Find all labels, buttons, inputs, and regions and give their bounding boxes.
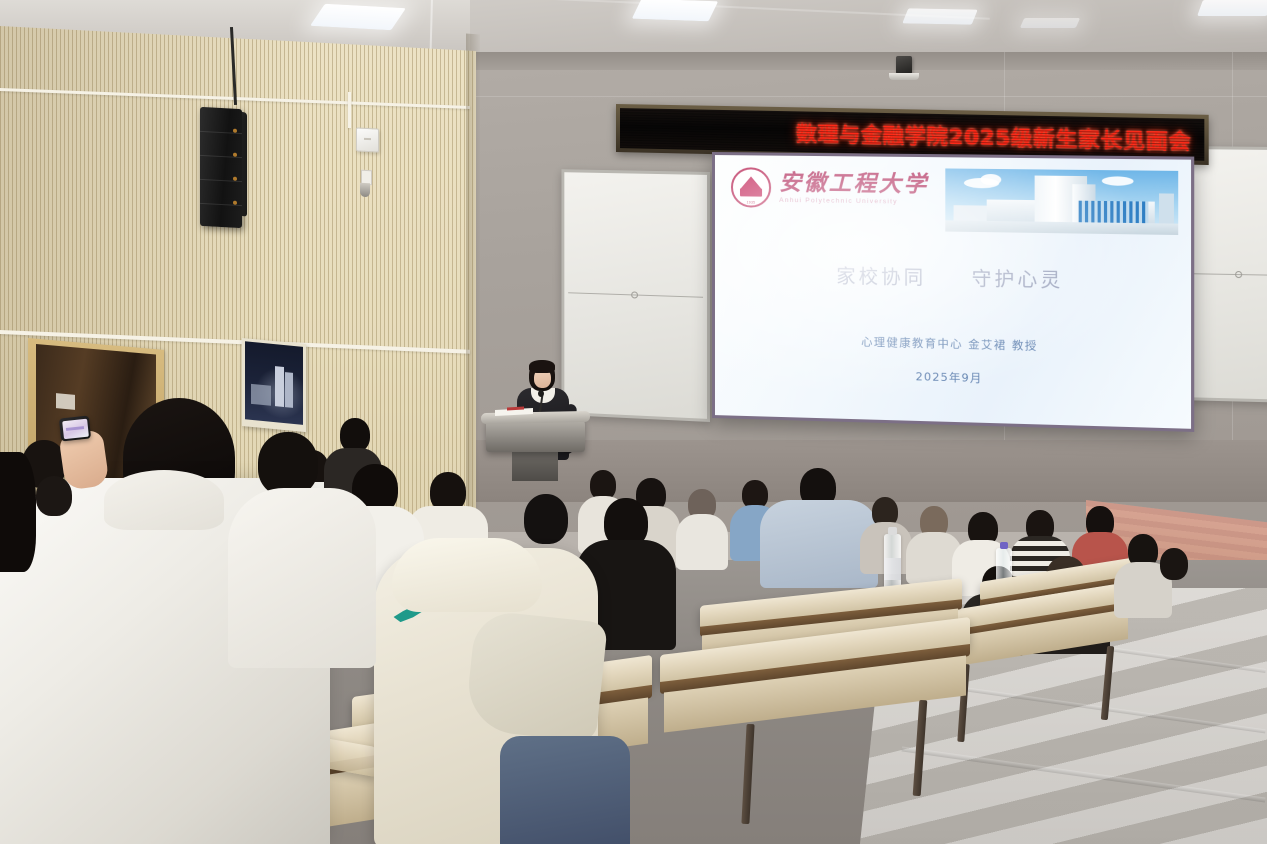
led-banner-screen: 数理与金融学院2025级新生家长见面会 [620,108,1204,161]
presentation-slide: 1935 安徽工程大学 Anhui Polytechnic University… [715,155,1191,429]
audience-head [340,418,370,452]
audience-head [1160,548,1188,580]
foreground-person-collar [104,470,224,530]
university-logo-block: 1935 安徽工程大学 Anhui Polytechnic University [731,167,929,210]
hoodie-hood [392,538,542,612]
university-name-cn: 安徽工程大学 [779,172,929,196]
podium-column [512,451,558,481]
framed-picture-image [245,341,303,425]
wall-cable-conduit [348,92,351,128]
emblem-year: 1935 [733,200,769,204]
door-notice-paper [56,393,75,410]
camera-mount [889,73,919,80]
wall-seam [470,96,1267,97]
line-array-speaker-icon [200,107,242,228]
front-wall-cornice [470,52,1267,70]
microphone-icon [538,390,544,397]
slide-title: 家校协同 守护心灵 [715,259,1191,295]
surveillance-camera-icon [896,56,912,74]
front-wall-lower-band [470,440,1267,502]
university-emblem-icon: 1935 [731,167,771,208]
projection-screen: 1935 安徽工程大学 Anhui Polytechnic University… [712,152,1194,432]
audience-jeans [500,736,630,844]
audience-torso [676,514,728,570]
lecture-hall-photo: 数理与金融学院2025级新生家长见面会 1935 安徽工程大学 Anhui Po… [0,0,1267,844]
audience-head [258,432,318,496]
led-banner-text: 数理与金融学院2025级新生家长见面会 [796,116,1204,155]
audience-head [36,476,72,516]
phone-screen [62,418,89,439]
audience-head [524,494,568,544]
ceiling-light-panel [310,4,406,30]
sensor-lens [360,183,370,198]
smartphone[interactable] [59,415,91,441]
presenter-hair [529,360,555,373]
audience-torso [228,488,376,668]
slide-presenter: 心理健康教育中心 金艾裙 教授 [715,330,1191,357]
slide-date: 2025年9月 [715,363,1191,391]
campus-photo [945,168,1178,235]
ceiling-light-panel [1197,0,1267,16]
framed-wall-picture [242,338,306,432]
whiteboard-left [561,169,710,422]
wifi-access-point-icon [356,127,379,152]
audience-head [0,452,36,572]
university-name-en: Anhui Polytechnic University [779,197,929,206]
ceiling-light-panel [1020,18,1080,28]
